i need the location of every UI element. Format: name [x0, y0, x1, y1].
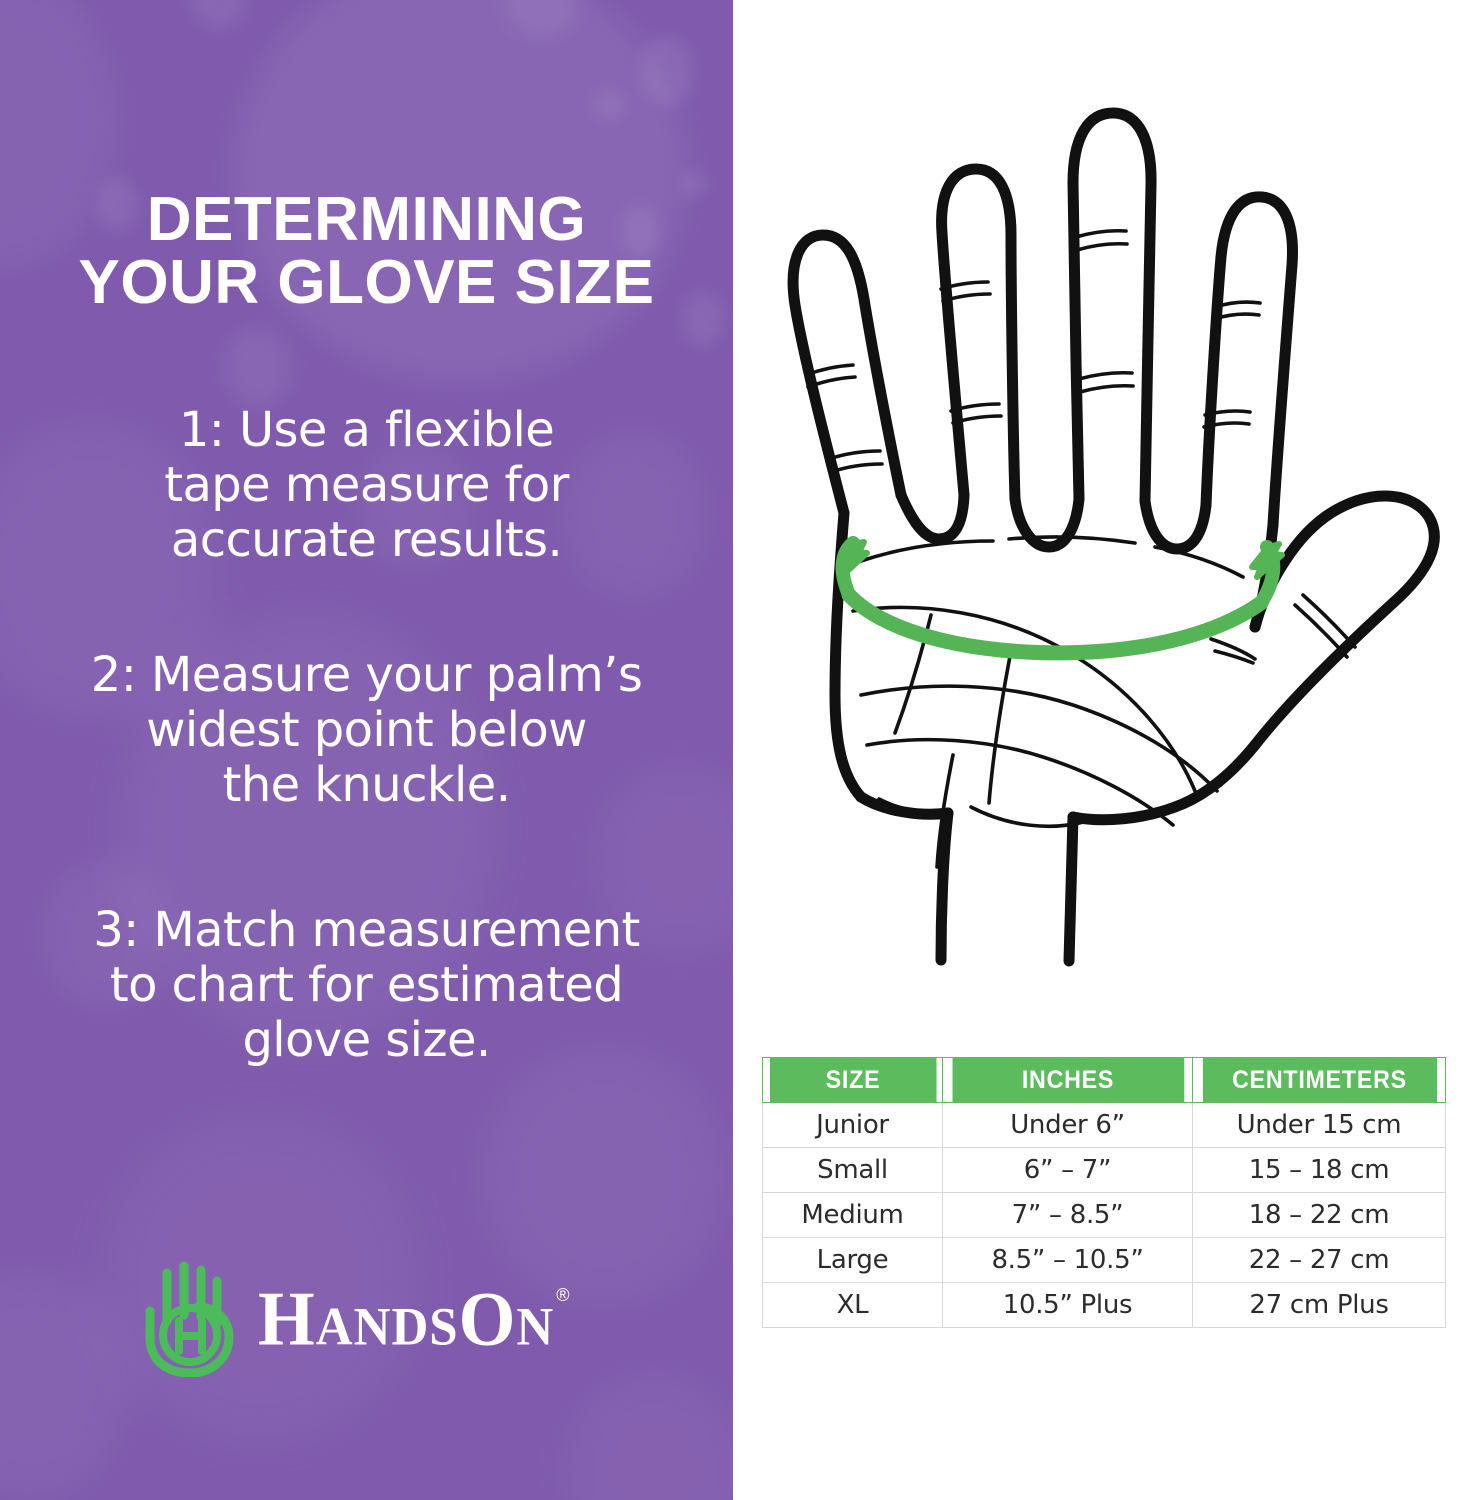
cell-cm: 15 – 18 cm: [1193, 1148, 1446, 1193]
instructions-panel: DETERMINING YOUR GLOVE SIZE 1: Use a fle…: [0, 0, 733, 1500]
table-row: Small 6” – 7” 15 – 18 cm: [763, 1148, 1446, 1193]
brand-wordmark: HandsOn: [258, 1279, 554, 1356]
step-3-line-3: glove size.: [0, 1013, 733, 1068]
cell-inches: 8.5” – 10.5”: [943, 1238, 1193, 1283]
column-header-inches: INCHES: [951, 1058, 1184, 1103]
cell-inches: 7” – 8.5”: [943, 1193, 1193, 1238]
table-header-row: SIZE INCHES CENTIMETERS: [763, 1058, 1446, 1103]
column-header-size: SIZE: [769, 1058, 936, 1103]
instruction-step-3: 3: Match measurement to chart for estima…: [0, 903, 733, 1069]
table-row: Junior Under 6” Under 15 cm: [763, 1103, 1446, 1148]
table-row: Medium 7” – 8.5” 18 – 22 cm: [763, 1193, 1446, 1238]
page-title: DETERMINING YOUR GLOVE SIZE: [0, 188, 733, 314]
cell-size: Medium: [763, 1193, 943, 1238]
step-2-line-3: the knuckle.: [0, 758, 733, 813]
cell-size: Small: [763, 1148, 943, 1193]
cell-cm: Under 15 cm: [1193, 1103, 1446, 1148]
cell-size: Junior: [763, 1103, 943, 1148]
cell-inches: 10.5” Plus: [943, 1283, 1193, 1328]
step-2-line-1: 2: Measure your palm’s: [0, 648, 733, 703]
step-1-line-3: accurate results.: [0, 513, 733, 568]
cell-inches: 6” – 7”: [943, 1148, 1193, 1193]
step-2-line-2: widest point below: [0, 703, 733, 758]
cell-cm: 27 cm Plus: [1193, 1283, 1446, 1328]
cell-cm: 18 – 22 cm: [1193, 1193, 1446, 1238]
brand-logo: HandsOn ®: [136, 1258, 606, 1378]
open-palm-hand-diagram: [743, 55, 1465, 1005]
cell-size: Large: [763, 1238, 943, 1283]
step-1-line-1: 1: Use a flexible: [0, 403, 733, 458]
table-row: XL 10.5” Plus 27 cm Plus: [763, 1283, 1446, 1328]
cell-size: XL: [763, 1283, 943, 1328]
page-title-line-1: DETERMINING: [0, 188, 733, 251]
cell-inches: Under 6”: [943, 1103, 1193, 1148]
step-3-line-1: 3: Match measurement: [0, 903, 733, 958]
hand-h-circle-icon: [136, 1259, 240, 1377]
step-1-line-2: tape measure for: [0, 458, 733, 513]
brand-wordmark-wrap: HandsOn ®: [258, 1282, 570, 1355]
glove-size-infographic: DETERMINING YOUR GLOVE SIZE 1: Use a fle…: [0, 0, 1465, 1500]
page-title-line-2: YOUR GLOVE SIZE: [0, 251, 733, 314]
glove-size-chart: SIZE INCHES CENTIMETERS Junior Under 6” …: [762, 1057, 1446, 1328]
table-row: Large 8.5” – 10.5” 22 – 27 cm: [763, 1238, 1446, 1283]
registered-trademark-icon: ®: [556, 1286, 569, 1304]
step-3-line-2: to chart for estimated: [0, 958, 733, 1013]
instruction-step-2: 2: Measure your palm’s widest point belo…: [0, 648, 733, 814]
diagram-and-chart-panel: SIZE INCHES CENTIMETERS Junior Under 6” …: [733, 0, 1465, 1500]
column-header-centimeters: CENTIMETERS: [1201, 1058, 1436, 1103]
instruction-step-1: 1: Use a flexible tape measure for accur…: [0, 403, 733, 569]
cell-cm: 22 – 27 cm: [1193, 1238, 1446, 1283]
measuring-tape-band: [839, 542, 1282, 653]
